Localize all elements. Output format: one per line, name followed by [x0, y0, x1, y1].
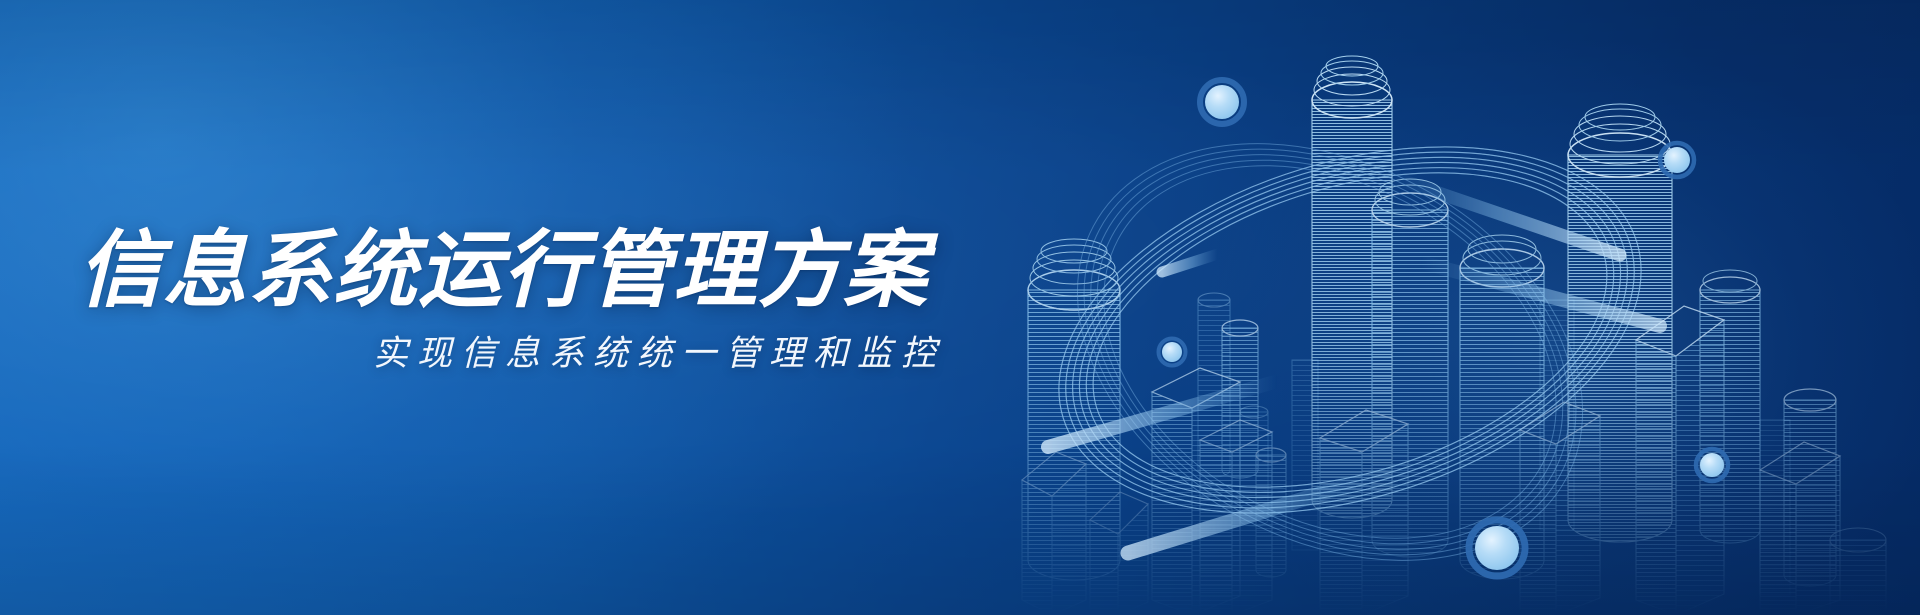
page-title: 信息系统运行管理方案: [78, 228, 928, 312]
banner-root: 信息系统运行管理方案 实现信息系统统一管理和监控: [0, 0, 1920, 615]
dot-mid-left: [1159, 339, 1186, 366]
dot-top-left: [1200, 80, 1244, 124]
dot-bottom-center: [1469, 520, 1525, 576]
wireframe-city-illustration: [900, 0, 1920, 615]
dot-upper-right: [1660, 143, 1694, 177]
page-subtitle: 实现信息系统统一管理和监控: [373, 336, 945, 371]
dot-lower-right: [1696, 449, 1728, 481]
headline-block: 信息系统运行管理方案 实现信息系统统一管理和监控: [0, 0, 900, 615]
tower-cylinder-r: [1830, 528, 1886, 615]
